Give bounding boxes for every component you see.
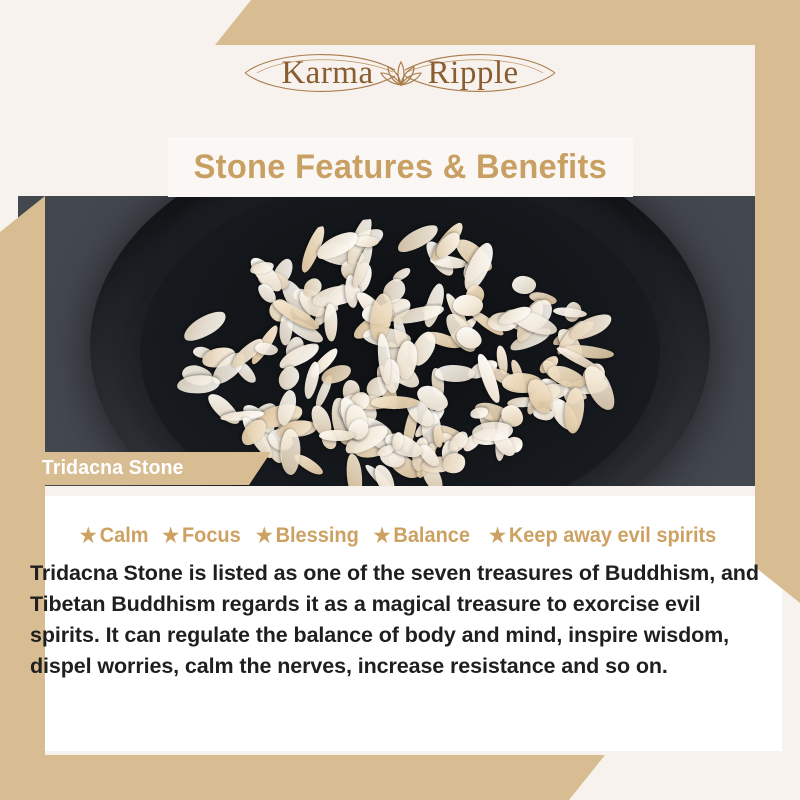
star-icon: ★ (374, 526, 391, 546)
stone-name-label: Tridacna Stone (21, 457, 184, 480)
frame-bottom-bar (0, 755, 605, 800)
stone-chip (553, 306, 588, 320)
star-icon: ★ (162, 526, 179, 546)
description-text: Tridacna Stone is listed as one of the s… (30, 558, 770, 682)
brand-wordmark: Karma Ripple (281, 55, 518, 92)
brand-logo-inner: Karma Ripple (235, 42, 565, 104)
benefit-label: Focus (182, 524, 241, 548)
stone-chip (280, 429, 301, 476)
benefit-tag: ★Keep away evil spirits (489, 524, 716, 548)
benefit-label: Blessing (276, 524, 359, 548)
brand-logo: Karma Ripple (0, 38, 800, 108)
benefit-tag: ★Calm (80, 524, 149, 548)
benefit-tag: ★Blessing (256, 524, 359, 548)
page-title: Stone Features & Benefits (194, 148, 607, 187)
brand-word-left: Karma (281, 55, 373, 92)
stone-chip (179, 307, 230, 347)
frame-left-strip (0, 196, 45, 800)
hero-photo-backdrop (18, 196, 782, 496)
stone-chip (324, 303, 337, 341)
poster-root: Karma Ripple Stone F (0, 0, 800, 800)
brand-word-right: Ripple (428, 55, 519, 92)
benefit-label: Keep away evil spirits (509, 524, 716, 548)
stone-name-banner: Tridacna Stone (18, 452, 271, 485)
benefit-tag: ★Balance (374, 524, 470, 548)
benefit-label: Balance (394, 524, 471, 548)
benefit-tag: ★Focus (162, 524, 241, 548)
stone-chip (204, 389, 243, 428)
page-title-band: Stone Features & Benefits (168, 137, 633, 197)
star-icon: ★ (80, 526, 97, 546)
lotus-icon (380, 58, 422, 88)
hero-image (18, 196, 782, 496)
benefits-list: ★Calm★Focus★Blessing★Balance★Keep away e… (0, 524, 800, 548)
star-icon: ★ (489, 526, 506, 546)
star-icon: ★ (256, 526, 273, 546)
stone-chip (434, 364, 475, 382)
benefit-label: Calm (100, 524, 149, 548)
